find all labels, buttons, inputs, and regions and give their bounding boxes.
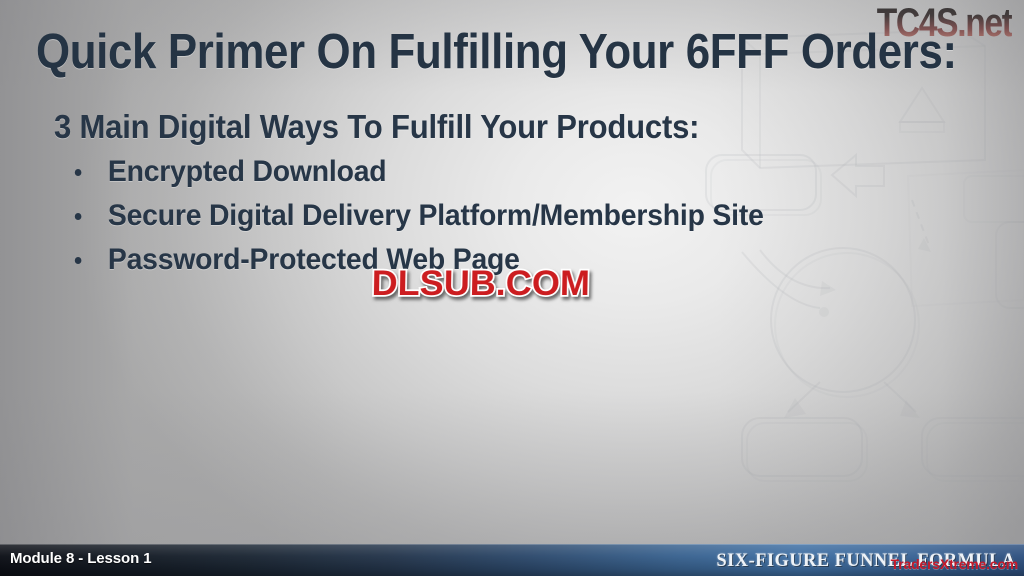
bullet-item: Encrypted Download: [54, 150, 952, 194]
tradersxtreme-watermark: TradersXtreme.com: [891, 556, 1018, 572]
bullet-text: Secure Digital Delivery Platform/Members…: [108, 199, 764, 232]
tc4s-watermark: TC4S.net: [877, 1, 1012, 46]
footer-bar: Module 8 - Lesson 1 SIX-FIGURE FUNNEL FO…: [0, 544, 1024, 576]
bullet-item: Secure Digital Delivery Platform/Members…: [54, 194, 952, 238]
presentation-slide: Quick Primer On Fulfilling Your 6FFF Ord…: [0, 0, 1024, 576]
slide-body: 3 Main Digital Ways To Fulfill Your Prod…: [54, 108, 1004, 282]
lesson-label: Module 8 - Lesson 1: [10, 550, 151, 567]
bullet-dot-icon: [75, 257, 82, 264]
dlsub-watermark: DLSUB.COM: [371, 264, 590, 304]
bullet-dot-icon: [75, 169, 82, 176]
bullet-list: Encrypted Download Secure Digital Delive…: [54, 150, 1004, 281]
bullet-text: Encrypted Download: [108, 155, 387, 188]
bullet-dot-icon: [75, 213, 82, 220]
slide-title: Quick Primer On Fulfilling Your 6FFF Ord…: [36, 28, 895, 78]
slide-subheading: 3 Main Digital Ways To Fulfill Your Prod…: [54, 108, 947, 146]
